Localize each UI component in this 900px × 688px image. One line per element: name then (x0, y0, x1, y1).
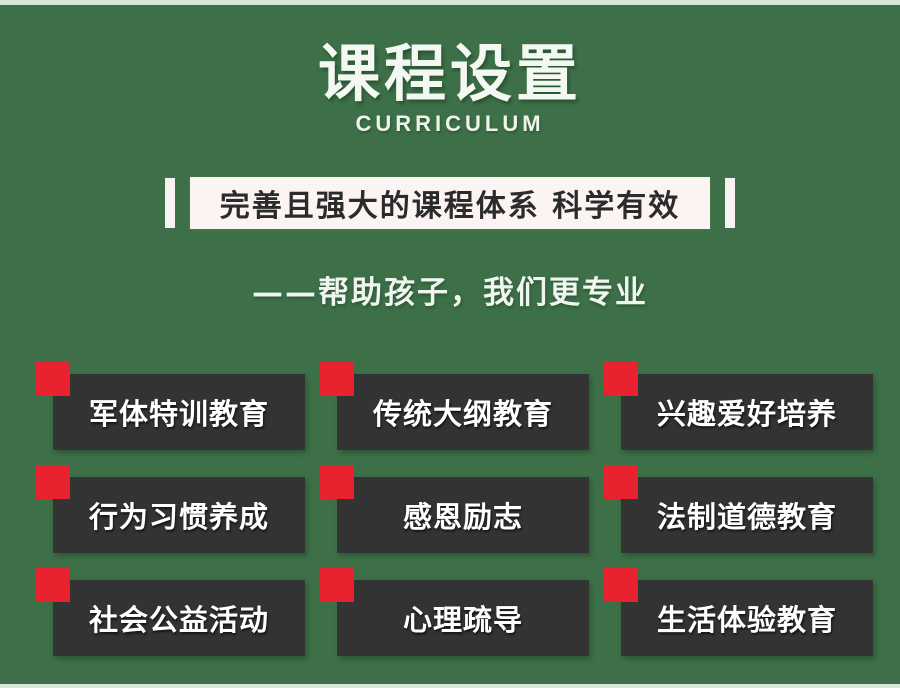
card-body: 传统大纲教育 (337, 374, 589, 450)
card-label: 行为习惯养成 (89, 494, 269, 536)
red-square-icon (604, 568, 638, 602)
card-label: 社会公益活动 (89, 597, 269, 639)
bottom-edge-strip (0, 684, 900, 688)
red-square-icon (604, 362, 638, 396)
red-square-icon (320, 465, 354, 499)
banner-left-bar (163, 176, 177, 230)
card-body: 兴趣爱好培养 (621, 374, 873, 450)
curriculum-card[interactable]: 法制道德教育 (594, 461, 874, 564)
card-body: 社会公益活动 (53, 580, 305, 656)
card-label: 法制道德教育 (657, 494, 837, 536)
red-square-icon (604, 465, 638, 499)
red-square-icon (36, 362, 70, 396)
red-square-icon (320, 362, 354, 396)
tagline: ——帮助孩子，我们更专业 (0, 267, 900, 312)
card-body: 感恩励志 (337, 477, 589, 553)
banner-box: 完善且强大的课程体系 科学有效 (187, 174, 713, 232)
card-body: 行为习惯养成 (53, 477, 305, 553)
banner-text: 完善且强大的课程体系 科学有效 (220, 181, 680, 225)
card-label: 感恩励志 (403, 494, 523, 536)
card-label: 生活体验教育 (657, 597, 837, 639)
curriculum-card[interactable]: 心理疏导 (310, 564, 590, 667)
card-body: 法制道德教育 (621, 477, 873, 553)
banner-right-bar (723, 176, 737, 230)
top-edge-strip (0, 0, 900, 5)
headline-banner: 完善且强大的课程体系 科学有效 (0, 172, 900, 234)
card-body: 心理疏导 (337, 580, 589, 656)
card-label: 传统大纲教育 (373, 391, 553, 433)
card-body: 军体特训教育 (53, 374, 305, 450)
curriculum-card[interactable]: 行为习惯养成 (26, 461, 306, 564)
card-label: 心理疏导 (403, 597, 523, 639)
page-title: 课程设置 (0, 42, 900, 105)
curriculum-card[interactable]: 传统大纲教育 (310, 358, 590, 461)
curriculum-card[interactable]: 军体特训教育 (26, 358, 306, 461)
red-square-icon (36, 568, 70, 602)
curriculum-card[interactable]: 生活体验教育 (594, 564, 874, 667)
curriculum-card[interactable]: 感恩励志 (310, 461, 590, 564)
card-label: 兴趣爱好培养 (657, 391, 837, 433)
red-square-icon (36, 465, 70, 499)
curriculum-card[interactable]: 社会公益活动 (26, 564, 306, 667)
card-body: 生活体验教育 (621, 580, 873, 656)
poster-header: 课程设置 CURRICULUM (0, 42, 900, 137)
curriculum-card-grid: 军体特训教育 传统大纲教育 兴趣爱好培养 行为习惯养成 感恩励志 (26, 358, 874, 667)
curriculum-card[interactable]: 兴趣爱好培养 (594, 358, 874, 461)
card-label: 军体特训教育 (89, 391, 269, 433)
curriculum-poster: 课程设置 CURRICULUM 完善且强大的课程体系 科学有效 ——帮助孩子，我… (0, 0, 900, 688)
red-square-icon (320, 568, 354, 602)
page-subtitle: CURRICULUM (0, 111, 900, 137)
